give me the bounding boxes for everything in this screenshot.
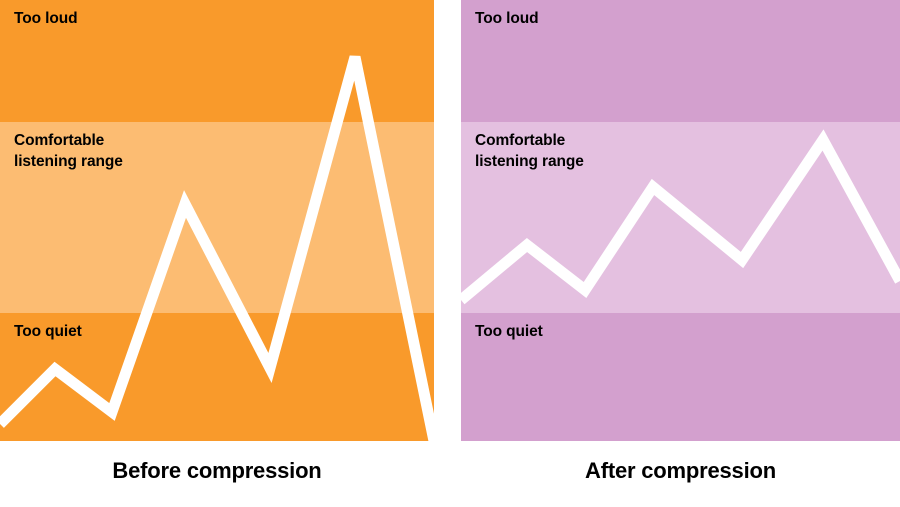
caption-after-compression: After compression [461, 458, 900, 484]
band-label-too-loud-after: Too loud [475, 9, 538, 30]
band-comfortable-before: Comfortable listening range [0, 122, 434, 313]
band-label-too-quiet-after: Too quiet [475, 322, 543, 343]
panel-after-compression: Too loud Comfortable listening range Too… [461, 0, 900, 441]
band-too-loud-before: Too loud [0, 0, 434, 122]
comparison-figure: Too loud Comfortable listening range Too… [0, 0, 900, 507]
band-too-quiet-before: Too quiet [0, 313, 434, 441]
band-label-comfortable-after: Comfortable listening range [475, 131, 584, 172]
band-too-quiet-after: Too quiet [461, 313, 900, 441]
band-label-too-quiet-before: Too quiet [14, 322, 82, 343]
band-comfortable-after: Comfortable listening range [461, 122, 900, 313]
band-too-loud-after: Too loud [461, 0, 900, 122]
panel-before-compression: Too loud Comfortable listening range Too… [0, 0, 434, 441]
caption-before-compression: Before compression [0, 458, 434, 484]
band-label-comfortable-before: Comfortable listening range [14, 131, 123, 172]
band-label-too-loud-before: Too loud [14, 9, 77, 30]
